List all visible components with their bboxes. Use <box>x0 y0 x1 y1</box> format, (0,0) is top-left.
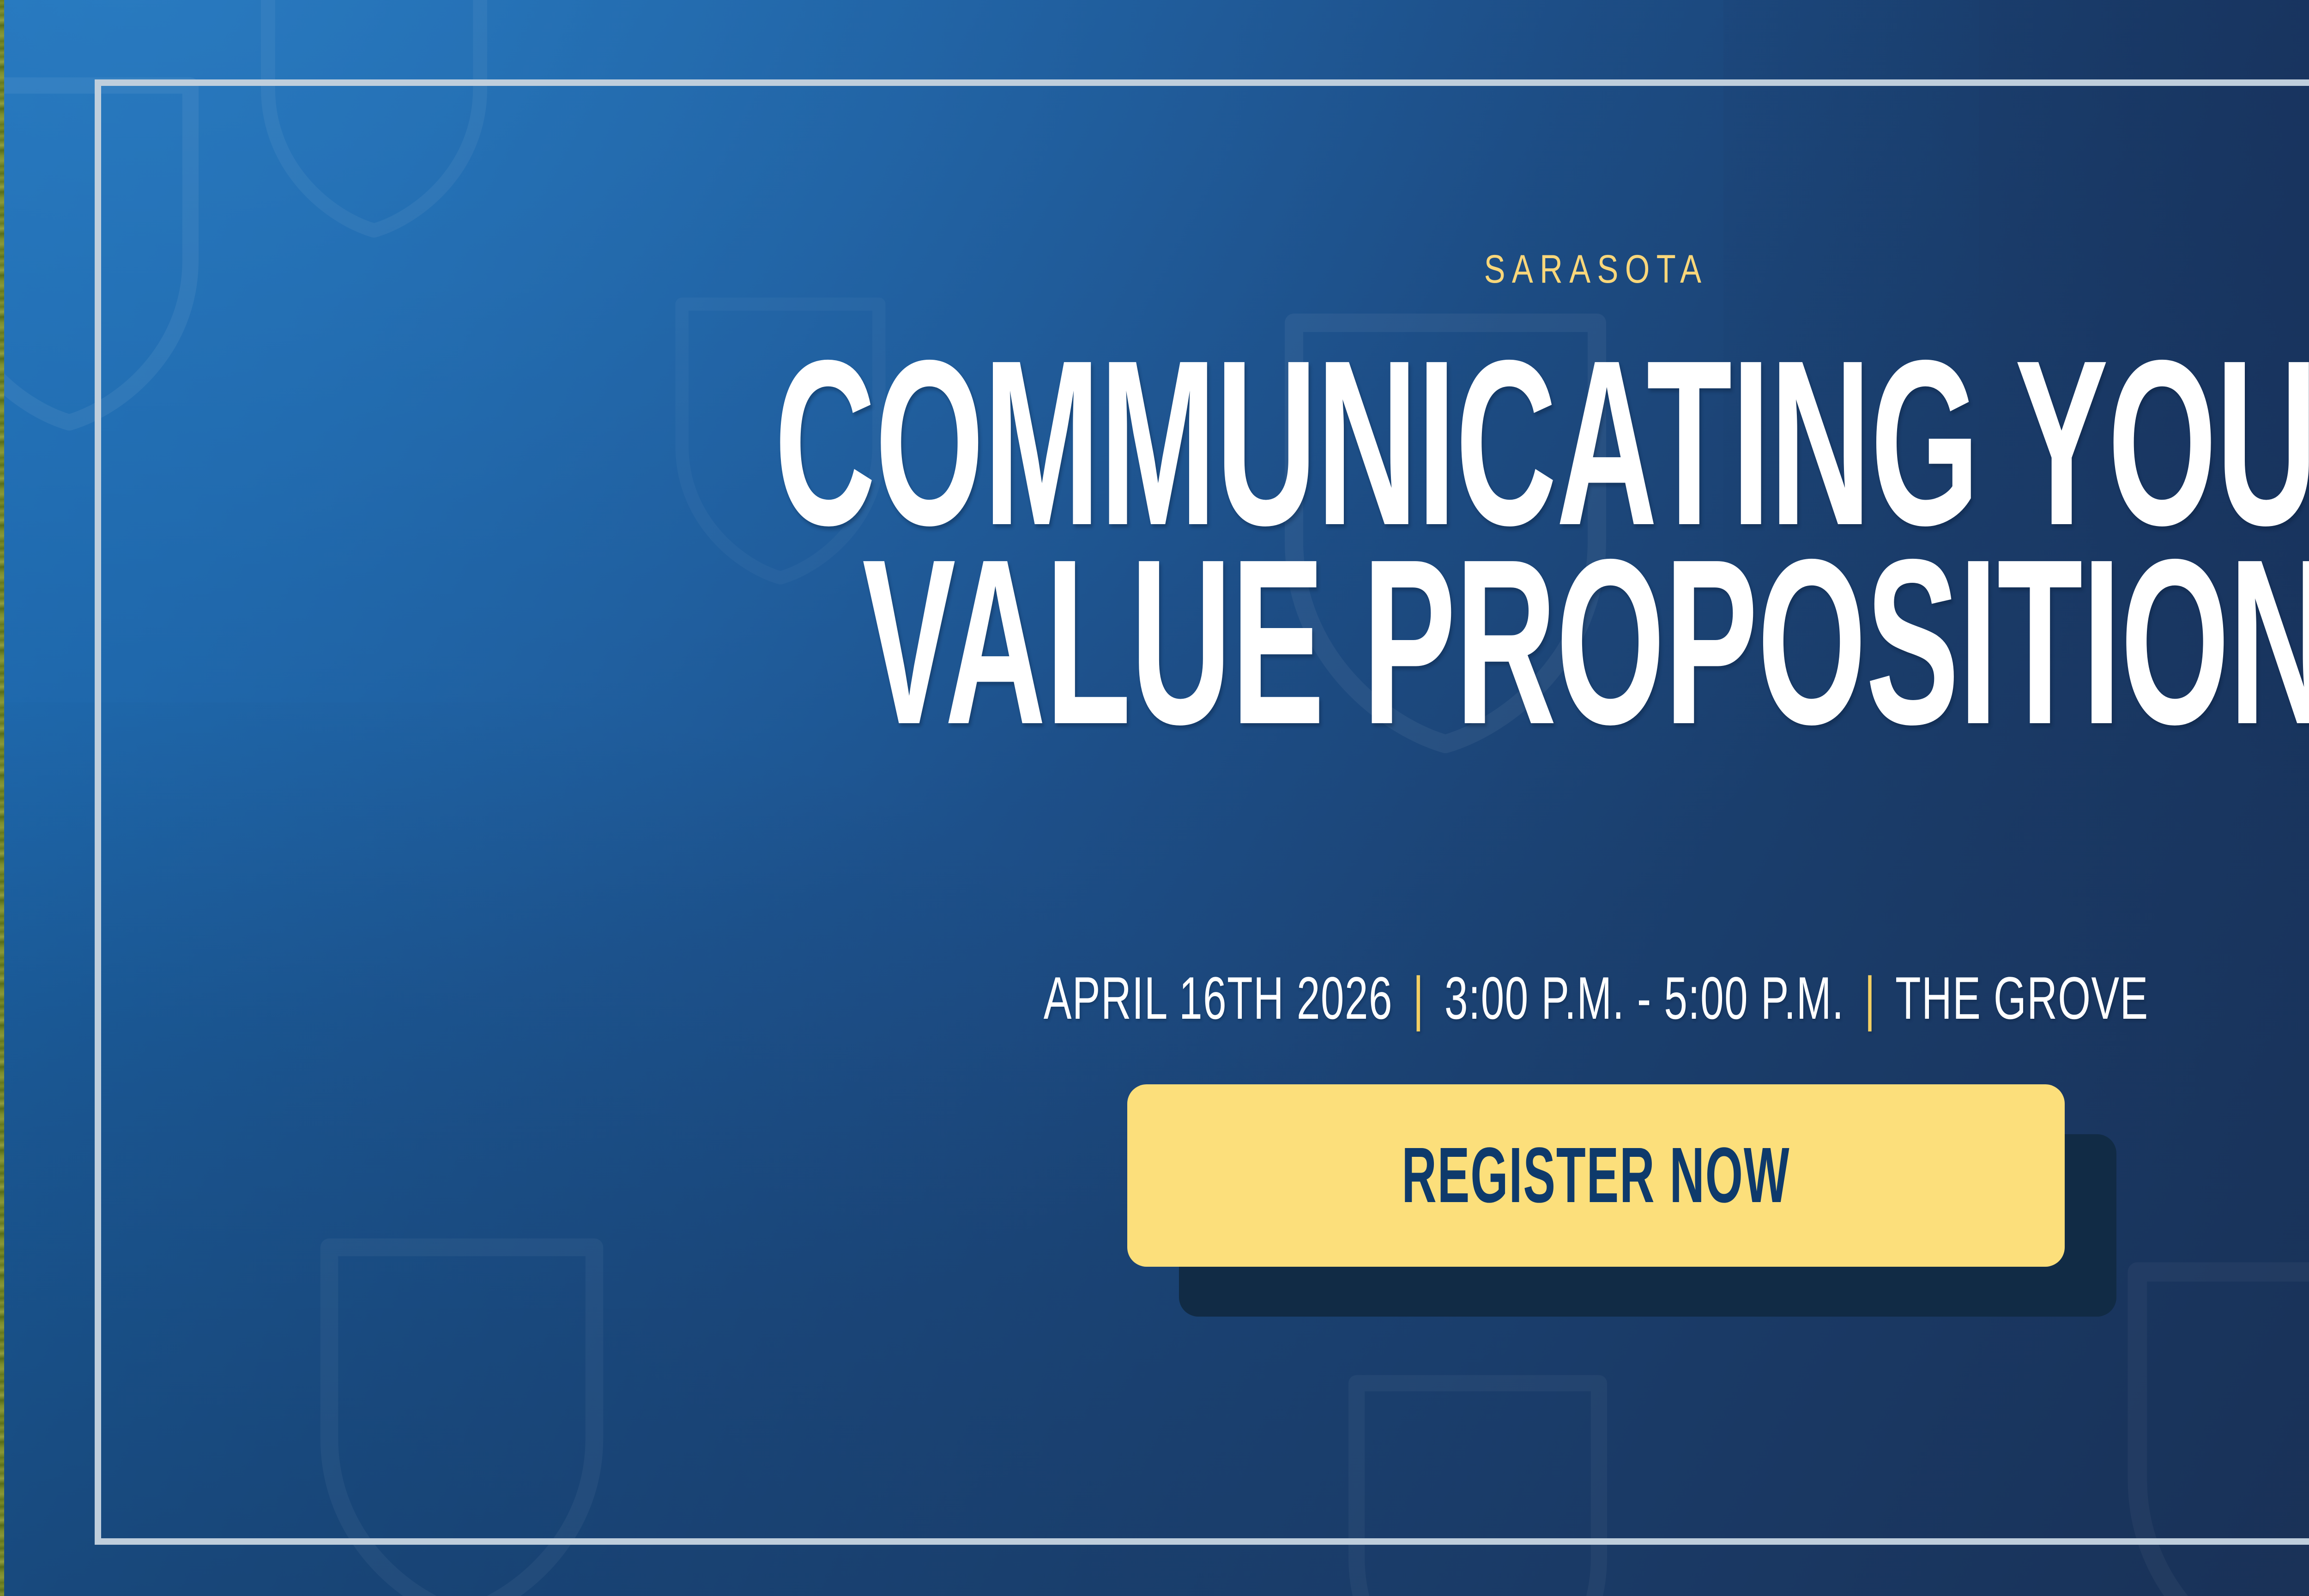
detail-separator: | <box>1856 964 1884 1032</box>
page-title: COMMUNICATING YOUR VALUE PROPOSITION <box>774 344 2309 742</box>
event-venue: THE GROVE <box>1895 964 2149 1032</box>
headline-line-2: VALUE PROPOSITION <box>774 543 2309 742</box>
event-banner: SARASOTA COMMUNICATING YOUR VALUE PROPOS… <box>0 0 2309 1596</box>
detail-separator: | <box>1405 964 1432 1032</box>
banner-content: SARASOTA COMMUNICATING YOUR VALUE PROPOS… <box>0 0 2309 1596</box>
register-now-button[interactable]: REGISTER NOW <box>1127 1084 2065 1267</box>
event-time: 3:00 P.M. - 5:00 P.M. <box>1445 964 1844 1032</box>
event-date: APRIL 16TH 2026 <box>1044 964 1393 1032</box>
location-eyebrow: SARASOTA <box>1484 249 1708 289</box>
event-details-line: APRIL 16TH 2026 | 3:00 P.M. - 5:00 P.M. … <box>1044 968 2149 1028</box>
register-now-label: REGISTER NOW <box>1402 1136 1790 1215</box>
cta-container: REGISTER NOW <box>1127 1084 2065 1267</box>
